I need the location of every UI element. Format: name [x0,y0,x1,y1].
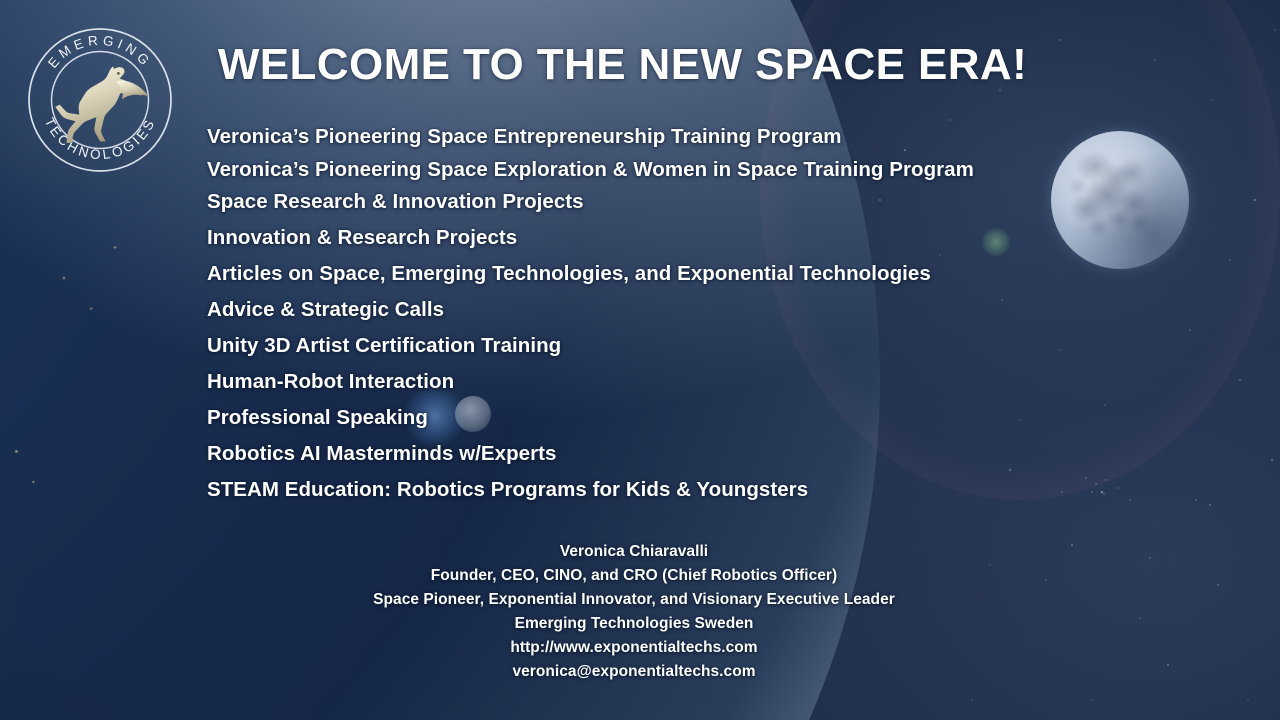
contact-titles: Founder, CEO, CINO, and CRO (Chief Robot… [0,564,1268,588]
list-item: Articles on Space, Emerging Technologies… [207,264,1207,285]
presentation-slide: EMERGING TECHNOLOGIES WELCOME TO THE NEW… [0,0,1280,720]
list-item: Unity 3D Artist Certification Training [207,336,1207,357]
offerings-list: Veronica’s Pioneering Space Entrepreneur… [207,127,1207,516]
list-item: Space Research & Innovation Projects [207,192,1207,213]
slide-title: WELCOME TO THE NEW SPACE ERA! [0,40,1245,90]
list-item: Veronica’s Pioneering Space Exploration … [207,160,1207,181]
list-item: Advice & Strategic Calls [207,300,1207,321]
contact-website[interactable]: http://www.exponentialtechs.com [0,636,1268,660]
list-item: Innovation & Research Projects [207,228,1207,249]
contact-block: Veronica Chiaravalli Founder, CEO, CINO,… [0,540,1268,684]
list-item: Professional Speaking [207,408,1207,429]
list-item: Robotics AI Masterminds w/Experts [207,444,1207,465]
contact-descriptors: Space Pioneer, Exponential Innovator, an… [0,588,1268,612]
list-item: Veronica’s Pioneering Space Entrepreneur… [207,127,1207,148]
contact-name: Veronica Chiaravalli [0,540,1268,564]
contact-company: Emerging Technologies Sweden [0,612,1268,636]
list-item: STEAM Education: Robotics Programs for K… [207,480,1207,501]
contact-email[interactable]: veronica@exponentialtechs.com [0,660,1268,684]
list-item: Human-Robot Interaction [207,372,1207,393]
